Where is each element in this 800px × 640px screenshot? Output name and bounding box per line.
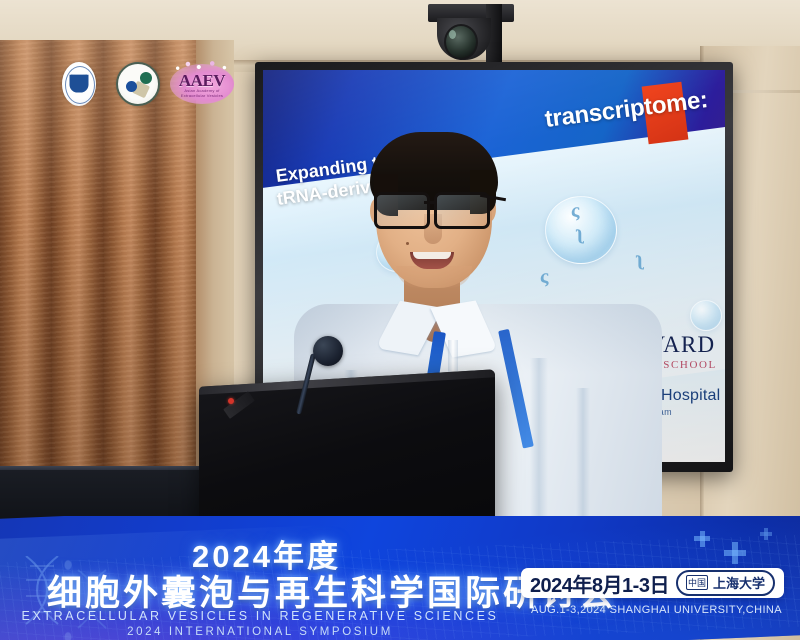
glasses-lens-left	[374, 192, 430, 229]
aaev-subtitle: Asian Academy of Extracellular Vesicles	[172, 88, 232, 98]
institute-seal-icon	[116, 62, 160, 106]
speaker-chin	[396, 266, 472, 288]
seal-dot-green	[140, 72, 152, 84]
event-banner: 2024年度 细胞外囊泡与再生科学国际研讨会 EXTRACELLULAR VES…	[0, 516, 800, 640]
glasses-lens-right	[434, 192, 490, 229]
speaker-teeth	[413, 252, 451, 259]
banner-title-en-line1: EXTRACELLULAR VESICLES IN REGENERATIVE S…	[0, 609, 520, 623]
microphone-head-icon	[313, 336, 343, 366]
camera-lens-glint	[449, 30, 456, 39]
organizer-logo-row: AAEV Asian Academy of Extracellular Vesi…	[62, 62, 242, 108]
glasses-bridge	[424, 201, 436, 204]
aaev-logo-icon: AAEV Asian Academy of Extracellular Vesi…	[170, 64, 234, 104]
conference-photo: AAEV Asian Academy of Extracellular Vesi…	[0, 0, 800, 640]
event-date-cn: 2024年8月1-3日	[530, 569, 669, 598]
laptop-logo-dot	[228, 398, 234, 404]
speaker-glasses-icon	[374, 192, 498, 224]
speaker-mole	[406, 242, 409, 245]
plus-decor-2	[724, 550, 746, 556]
event-venue-badge: 中国 上海大学	[676, 570, 775, 596]
vesicle-bubble-tiny	[690, 300, 722, 331]
shanghai-university-seal-icon	[62, 62, 96, 106]
seal-dot-blue	[126, 81, 137, 92]
trna-squiggle-3: ʅ	[636, 248, 643, 271]
banner-title-en-line2: 2024 INTERNATIONAL SYMPOSIUM	[0, 626, 520, 638]
event-date-badge: 2024年8月1-3日 中国 上海大学	[521, 568, 784, 598]
venue-country: 中国	[686, 575, 708, 590]
camera-lens	[444, 24, 478, 60]
plus-decor-1	[694, 536, 710, 541]
venue-name: 上海大学	[713, 573, 765, 592]
plus-decor-3	[760, 532, 772, 536]
event-date-en: AUG.1-3,2024 SHANGHAI UNIVERSITY,CHINA	[531, 604, 782, 616]
